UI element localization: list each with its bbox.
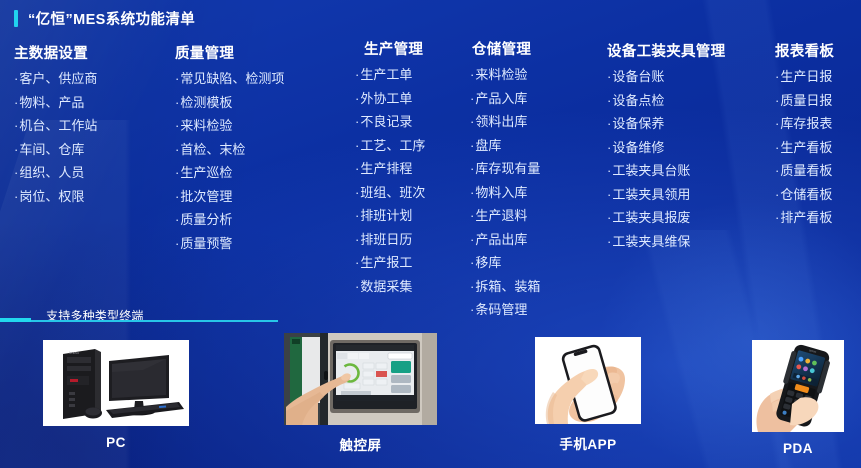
desktop-computer-photo: lenovo [43, 340, 189, 426]
bullet-icon: · [355, 209, 359, 222]
list-item-label: 车间、仓库 [19, 143, 84, 156]
bullet-icon: · [775, 211, 779, 224]
list-item-label: 班组、班次 [360, 186, 425, 199]
bullet-icon: · [355, 162, 359, 175]
bullet-icon: · [607, 70, 611, 83]
bullet-icon: · [775, 70, 779, 83]
list-item-label: 岗位、权限 [19, 190, 84, 203]
list-item[interactable]: ·领料出库 [470, 115, 540, 128]
column-item-list: ·来料检验 ·产品入库 ·领料出库 ·盘库 ·库存现有量 ·物料入库 ·生产退料… [470, 68, 540, 316]
touchscreen-panel-photo [284, 333, 437, 425]
bullet-icon: · [470, 303, 474, 316]
list-item-label: 领料出库 [475, 115, 527, 128]
bullet-icon: · [175, 143, 179, 156]
list-item[interactable]: ·检测模板 [175, 96, 284, 109]
bullet-icon: · [175, 72, 179, 85]
slide-canvas: “亿恒”MES系统功能清单 主数据设置 ·客户、供应商 ·物料、产品 ·机台、工… [0, 0, 861, 468]
list-item-label: 质量看板 [780, 164, 832, 177]
column-header: 主数据设置 [14, 42, 97, 63]
list-item-label: 排班日历 [360, 233, 412, 246]
list-item[interactable]: ·生产工单 [355, 68, 425, 81]
list-item[interactable]: ·来料检验 [470, 68, 540, 81]
list-item-label: 生产退料 [475, 209, 527, 222]
bullet-icon: · [355, 186, 359, 199]
list-item[interactable]: ·常见缺陷、检测项 [175, 72, 284, 85]
list-item[interactable]: ·盘库 [470, 139, 540, 152]
list-item[interactable]: ·质量预警 [175, 237, 284, 250]
list-item-label: 设备保养 [612, 117, 664, 130]
bullet-icon: · [355, 280, 359, 293]
list-item-label: 生产日报 [780, 70, 832, 83]
list-item-label: 排产看板 [780, 211, 832, 224]
list-item-label: 设备台账 [612, 70, 664, 83]
bullet-icon: · [607, 211, 611, 224]
list-item[interactable]: ·客户、供应商 [14, 72, 97, 85]
bullet-icon: · [355, 256, 359, 269]
list-item-label: 拆箱、装箱 [475, 280, 540, 293]
list-item[interactable]: ·生产排程 [355, 162, 425, 175]
list-item-label: 首检、末检 [180, 143, 245, 156]
list-item-label: 库存现有量 [475, 162, 540, 175]
list-item-label: 外协工单 [360, 92, 412, 105]
bullet-icon: · [775, 164, 779, 177]
list-item-label: 来料检验 [180, 119, 232, 132]
bullet-icon: · [355, 233, 359, 246]
list-item-label: 检测模板 [180, 96, 232, 109]
list-item[interactable]: ·工装夹具领用 [607, 188, 725, 201]
list-item[interactable]: ·排班日历 [355, 233, 425, 246]
list-item[interactable]: ·物料入库 [470, 186, 540, 199]
list-item-label: 质量日报 [780, 94, 832, 107]
list-item-label: 移库 [475, 256, 501, 269]
bullet-icon: · [14, 119, 18, 132]
column-header: 生产管理 [355, 38, 425, 59]
bullet-icon: · [607, 188, 611, 201]
list-item-label: 质量预警 [180, 237, 232, 250]
list-item[interactable]: ·生产日报 [775, 70, 834, 83]
list-item[interactable]: ·生产看板 [775, 141, 834, 154]
bullet-icon: · [470, 68, 474, 81]
list-item-label: 生产报工 [360, 256, 412, 269]
list-item-label: 质量分析 [180, 213, 232, 226]
list-item-label: 数据采集 [360, 280, 412, 293]
list-item[interactable]: ·质量日报 [775, 94, 834, 107]
bullet-icon: · [607, 94, 611, 107]
list-item[interactable]: ·批次管理 [175, 190, 284, 203]
bullet-icon: · [470, 92, 474, 105]
list-item[interactable]: ·组织、人员 [14, 166, 97, 179]
module-column-production: 生产管理 ·生产工单 ·外协工单 ·不良记录 ·工艺、工序 ·生产排程 ·班组、… [355, 38, 425, 303]
list-item[interactable]: ·条码管理 [470, 303, 540, 316]
column-header: 质量管理 [175, 42, 284, 63]
bullet-icon: · [470, 139, 474, 152]
smartphone-icon [535, 337, 641, 424]
terminal-card-touchscreen[interactable]: 触控屏 [284, 333, 437, 454]
bullet-icon: · [355, 115, 359, 128]
list-item[interactable]: ·外协工单 [355, 92, 425, 105]
terminal-card-pc[interactable]: lenovo PC [43, 340, 189, 450]
list-item[interactable]: ·产品入库 [470, 92, 540, 105]
bullet-icon: · [470, 233, 474, 246]
list-item[interactable]: ·设备点检 [607, 94, 725, 107]
list-item[interactable]: ·岗位、权限 [14, 190, 97, 203]
list-item[interactable]: ·物料、产品 [14, 96, 97, 109]
list-item-label: 产品出库 [475, 233, 527, 246]
bullet-icon: · [775, 188, 779, 201]
list-item-label: 生产巡检 [180, 166, 232, 179]
bullet-icon: · [14, 143, 18, 156]
bullet-icon: · [355, 92, 359, 105]
terminal-caption: PDA [752, 441, 844, 456]
list-item[interactable]: ·工装夹具维保 [607, 235, 725, 248]
list-item-label: 物料、产品 [19, 96, 84, 109]
list-item[interactable]: ·拆箱、装箱 [470, 280, 540, 293]
list-item-label: 生产工单 [360, 68, 412, 81]
bullet-icon: · [470, 256, 474, 269]
list-item[interactable]: ·排班计划 [355, 209, 425, 222]
list-item-label: 产品入库 [475, 92, 527, 105]
column-header: 仓储管理 [470, 38, 540, 59]
bullet-icon: · [775, 141, 779, 154]
list-item-label: 不良记录 [360, 115, 412, 128]
list-item-label: 工装夹具台账 [612, 164, 690, 177]
bullet-icon: · [175, 166, 179, 179]
list-item[interactable]: ·不良记录 [355, 115, 425, 128]
bullet-icon: · [175, 96, 179, 109]
list-item-label: 客户、供应商 [19, 72, 97, 85]
bullet-icon: · [175, 190, 179, 203]
module-column-warehouse: 仓储管理 ·来料检验 ·产品入库 ·领料出库 ·盘库 ·库存现有量 ·物料入库 … [470, 38, 540, 327]
list-item-label: 工装夹具领用 [612, 188, 690, 201]
title-label: “亿恒”MES系统功能清单 [28, 8, 195, 29]
list-item[interactable]: ·设备保养 [607, 117, 725, 130]
list-item-label: 仓储看板 [780, 188, 832, 201]
list-item[interactable]: ·设备维修 [607, 141, 725, 154]
list-item-label: 设备维修 [612, 141, 664, 154]
bullet-icon: · [607, 117, 611, 130]
bullet-icon: · [175, 119, 179, 132]
list-item-label: 机台、工作站 [19, 119, 97, 132]
list-item[interactable]: ·库存报表 [775, 117, 834, 130]
terminal-caption: PC [43, 435, 189, 450]
list-item[interactable]: ·仓储看板 [775, 188, 834, 201]
column-header: 设备工装夹具管理 [607, 40, 725, 61]
handheld-pda-scanner-photo: urovo [752, 340, 844, 432]
list-item[interactable]: ·生产退料 [470, 209, 540, 222]
bullet-icon: · [470, 209, 474, 222]
list-item[interactable]: ·生产报工 [355, 256, 425, 269]
list-item[interactable]: ·数据采集 [355, 280, 425, 293]
list-item[interactable]: ·工装夹具台账 [607, 164, 725, 177]
bullet-icon: · [355, 68, 359, 81]
list-item[interactable]: ·质量看板 [775, 164, 834, 177]
list-item[interactable]: ·班组、班次 [355, 186, 425, 199]
column-item-list: ·客户、供应商 ·物料、产品 ·机台、工作站 ·车间、仓库 ·组织、人员 ·岗位… [14, 72, 97, 203]
list-item[interactable]: ·来料检验 [175, 119, 284, 132]
list-item-label: 工装夹具报废 [612, 211, 690, 224]
bullet-icon: · [470, 162, 474, 175]
list-item-label: 盘库 [475, 139, 501, 152]
desktop-computer-icon: lenovo [43, 340, 189, 426]
list-item[interactable]: ·排产看板 [775, 211, 834, 224]
bullet-icon: · [14, 96, 18, 109]
bullet-icon: · [355, 139, 359, 152]
bullet-icon: · [775, 117, 779, 130]
list-item[interactable]: ·移库 [470, 256, 540, 269]
list-item-label: 生产看板 [780, 141, 832, 154]
list-item[interactable]: ·工艺、工序 [355, 139, 425, 152]
list-item-label: 物料入库 [475, 186, 527, 199]
svg-text:lenovo: lenovo [69, 351, 79, 355]
list-item[interactable]: ·首检、末检 [175, 143, 284, 156]
list-item-label: 组织、人员 [19, 166, 84, 179]
list-item-label: 条码管理 [475, 303, 527, 316]
touchscreen-panel-icon [284, 333, 437, 425]
bullet-icon: · [607, 141, 611, 154]
list-item[interactable]: ·工装夹具报废 [607, 211, 725, 224]
terminal-card-pda[interactable]: urovo PDA [752, 340, 844, 456]
module-column-reports: 报表看板 ·生产日报 ·质量日报 ·库存报表 ·生产看板 ·质量看板 ·仓储看板… [775, 40, 834, 235]
list-item-label: 生产排程 [360, 162, 412, 175]
list-item[interactable]: ·车间、仓库 [14, 143, 97, 156]
list-item[interactable]: ·质量分析 [175, 213, 284, 226]
list-item[interactable]: ·机台、工作站 [14, 119, 97, 132]
terminal-card-mobile-app[interactable]: 手机APP [535, 337, 641, 453]
bullet-icon: · [14, 166, 18, 179]
column-item-list: ·生产日报 ·质量日报 ·库存报表 ·生产看板 ·质量看板 ·仓储看板 ·排产看… [775, 70, 834, 224]
list-item-label: 库存报表 [780, 117, 832, 130]
terminals-divider-line [0, 320, 278, 322]
list-item[interactable]: ·产品出库 [470, 233, 540, 246]
page-title: “亿恒”MES系统功能清单 [14, 8, 195, 29]
module-column-quality: 质量管理 ·常见缺陷、检测项 ·检测模板 ·来料检验 ·首检、末检 ·生产巡检 … [175, 42, 284, 260]
module-column-equipment: 设备工装夹具管理 ·设备台账 ·设备点检 ·设备保养 ·设备维修 ·工装夹具台账… [607, 40, 725, 258]
list-item-label: 设备点检 [612, 94, 664, 107]
list-item[interactable]: ·生产巡检 [175, 166, 284, 179]
terminal-caption: 触控屏 [284, 434, 437, 454]
bullet-icon: · [470, 186, 474, 199]
bullet-icon: · [470, 280, 474, 293]
list-item-label: 排班计划 [360, 209, 412, 222]
title-accent-bar [14, 10, 18, 27]
bullet-icon: · [14, 72, 18, 85]
bullet-icon: · [14, 190, 18, 203]
column-item-list: ·生产工单 ·外协工单 ·不良记录 ·工艺、工序 ·生产排程 ·班组、班次 ·排… [355, 68, 425, 293]
bullet-icon: · [470, 115, 474, 128]
terminals-divider-accent [0, 318, 31, 322]
list-item-label: 常见缺陷、检测项 [180, 72, 284, 85]
module-column-master-data: 主数据设置 ·客户、供应商 ·物料、产品 ·机台、工作站 ·车间、仓库 ·组织、… [14, 42, 97, 213]
bullet-icon: · [175, 237, 179, 250]
bullet-icon: · [607, 235, 611, 248]
column-header: 报表看板 [775, 40, 834, 61]
column-item-list: ·常见缺陷、检测项 ·检测模板 ·来料检验 ·首检、末检 ·生产巡检 ·批次管理… [175, 72, 284, 250]
terminal-caption: 手机APP [535, 433, 641, 453]
pda-scanner-icon: urovo [752, 340, 844, 432]
list-item[interactable]: ·库存现有量 [470, 162, 540, 175]
smartphone-in-hands-photo [535, 337, 641, 424]
list-item-label: 工艺、工序 [360, 139, 425, 152]
bullet-icon: · [775, 94, 779, 107]
column-item-list: ·设备台账 ·设备点检 ·设备保养 ·设备维修 ·工装夹具台账 ·工装夹具领用 … [607, 70, 725, 248]
list-item-label: 批次管理 [180, 190, 232, 203]
bullet-icon: · [607, 164, 611, 177]
list-item-label: 来料检验 [475, 68, 527, 81]
bullet-icon: · [175, 213, 179, 226]
list-item[interactable]: ·设备台账 [607, 70, 725, 83]
list-item-label: 工装夹具维保 [612, 235, 690, 248]
